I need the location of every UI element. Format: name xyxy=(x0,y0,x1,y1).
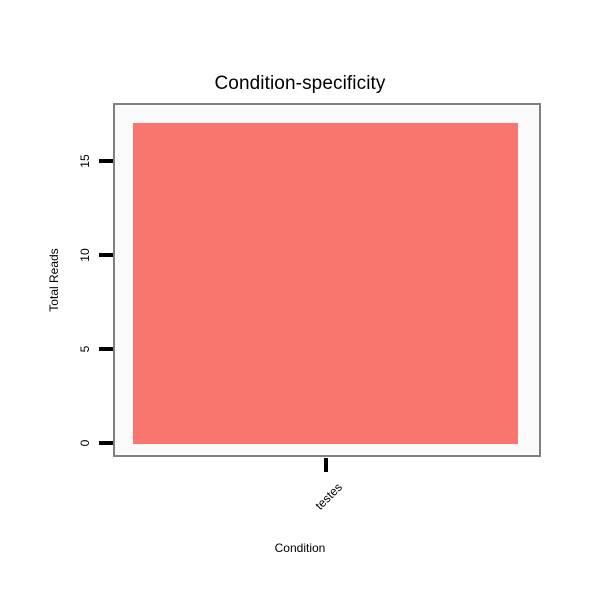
x-axis-title: Condition xyxy=(0,541,600,555)
y-axis-tick-mark xyxy=(99,441,113,445)
y-axis-tick-label: 0 xyxy=(79,429,91,457)
y-axis-tick-label: 15 xyxy=(79,147,91,175)
x-axis-tick-label: testes xyxy=(250,481,343,574)
y-axis-tick-mark xyxy=(99,159,113,163)
y-axis-tick-label: 5 xyxy=(79,335,91,363)
chart-canvas: Condition-specificity Total Reads 051015… xyxy=(0,0,600,600)
bar[interactable] xyxy=(133,123,518,444)
y-axis-tick-label: 10 xyxy=(79,241,91,269)
y-axis-tick-mark xyxy=(99,347,113,351)
chart-title: Condition-specificity xyxy=(0,72,600,96)
x-axis-tick-mark xyxy=(324,458,328,472)
plot-area xyxy=(115,105,539,455)
plot-panel xyxy=(113,103,541,457)
y-axis-tick-mark xyxy=(99,253,113,257)
y-axis-title: Total Reads xyxy=(48,220,60,340)
